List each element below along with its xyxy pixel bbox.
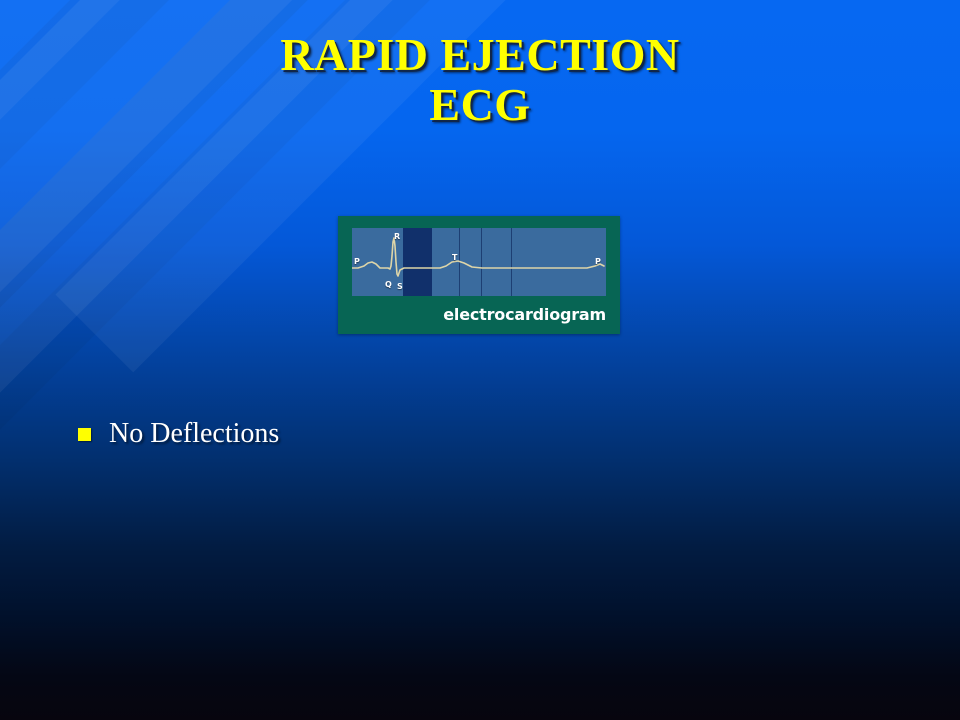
ecg-label-s: S: [397, 283, 403, 291]
ecg-figure: P Q R S T P electrocardiogram: [338, 216, 620, 334]
ecg-label-q: Q: [385, 281, 392, 289]
title-line-1: RAPID EJECTION: [280, 29, 679, 80]
slide-title: RAPID EJECTION ECG: [0, 30, 960, 129]
bullet-list: No Deflections: [78, 418, 778, 458]
slide: RAPID EJECTION ECG P Q R S T P electroca…: [0, 0, 960, 720]
ecg-label-p-second: P: [595, 258, 601, 266]
ecg-label-r: R: [394, 233, 400, 241]
ecg-label-t: T: [452, 254, 457, 262]
bullet-text: No Deflections: [109, 418, 279, 450]
ecg-chart: P Q R S T P: [352, 228, 606, 296]
square-bullet-icon: [78, 428, 91, 441]
ecg-caption: electrocardiogram: [338, 305, 606, 324]
list-item: No Deflections: [78, 418, 778, 450]
ecg-label-p-first: P: [354, 258, 360, 266]
title-line-2: ECG: [0, 80, 960, 130]
